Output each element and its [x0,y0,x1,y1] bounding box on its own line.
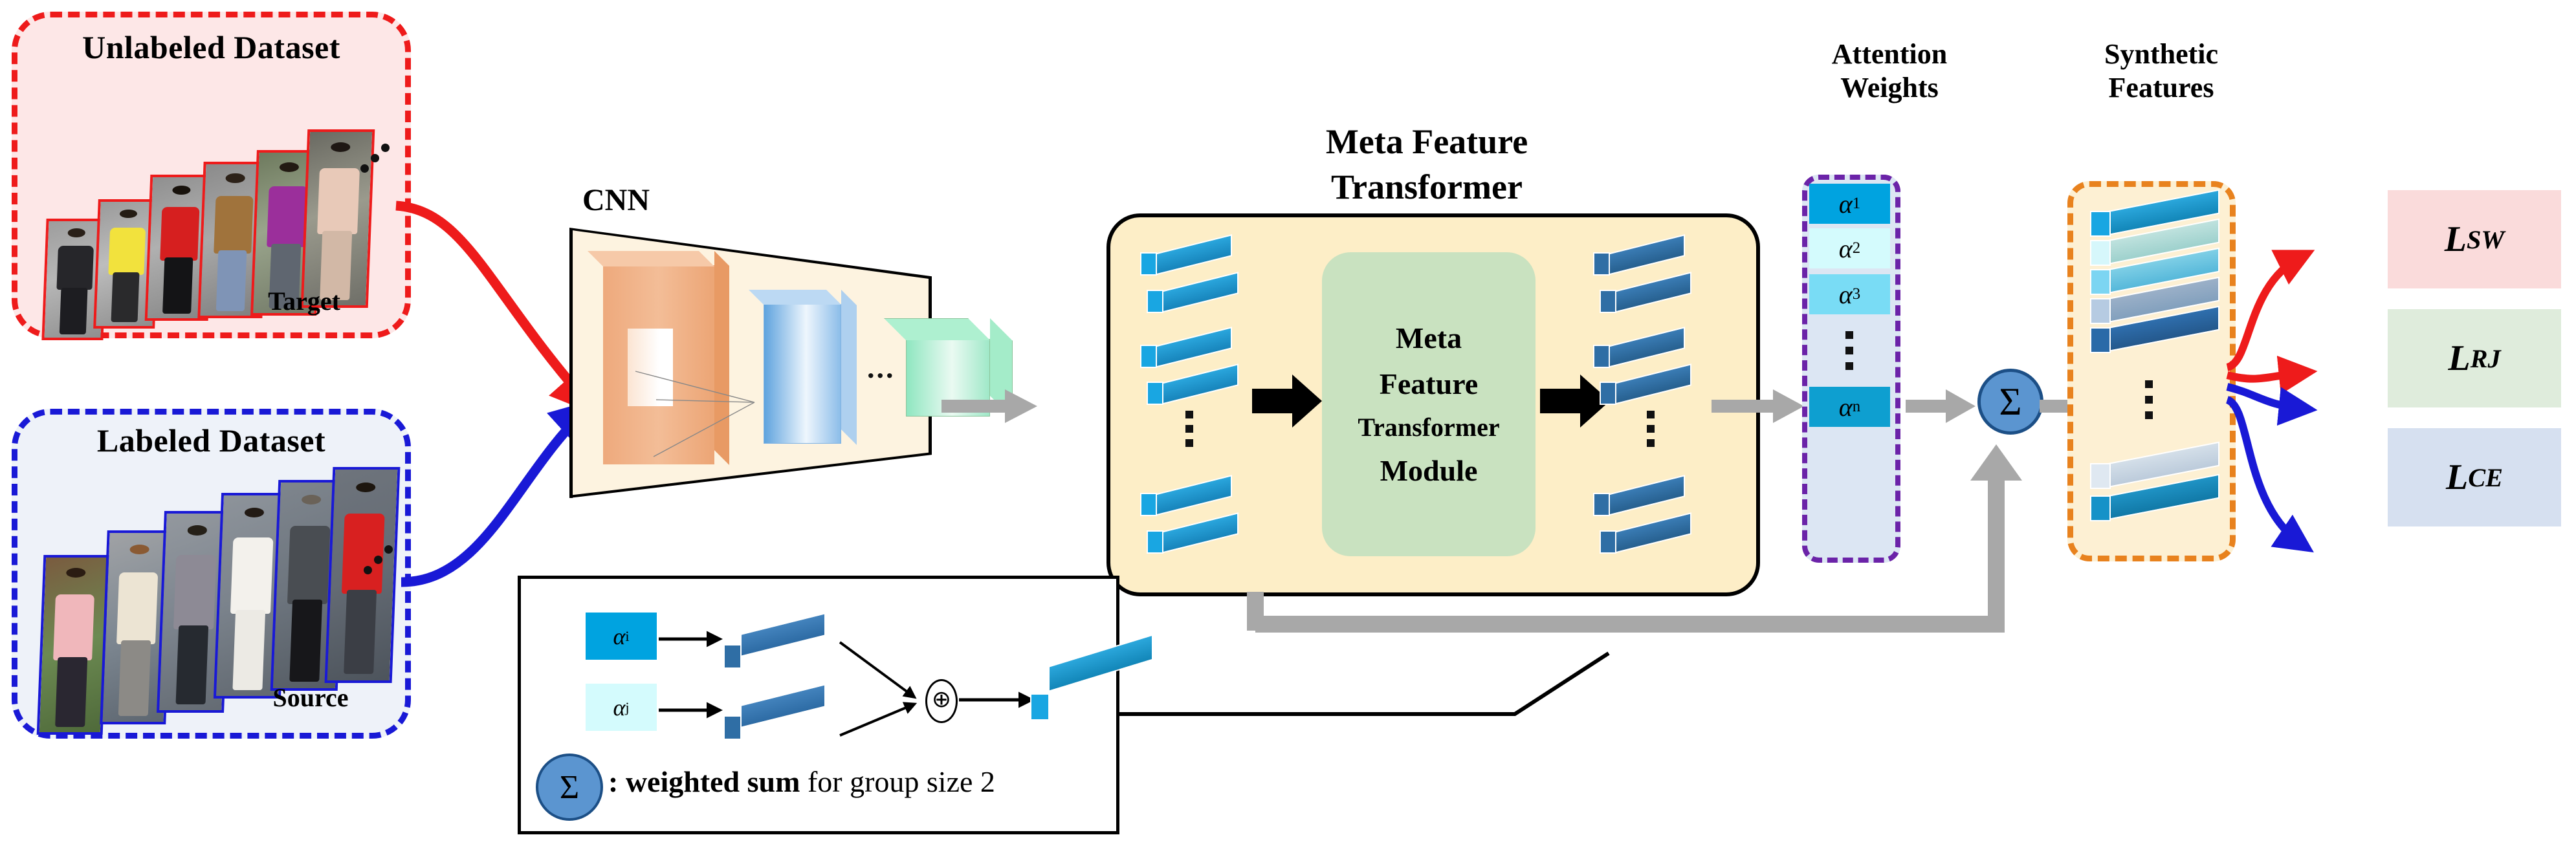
mft-module-text: Meta Feature Transformer Module [1322,252,1536,556]
synthetic-title-line2: Features [2054,71,2268,104]
meta-feature-transformer-module: Meta Feature Transformer Module [1322,252,1536,556]
legend-merge-arrows [835,637,938,741]
attention-title-line2: Weights [1783,71,1996,104]
synthetic-bar [2090,479,2219,523]
mft-input-bar [1147,517,1238,555]
mft-output-bar [1593,480,1685,517]
source-photo-1 [37,555,110,735]
mft-input-bar [1140,480,1232,517]
mft-input-bar [1147,369,1238,406]
legend-sum-icon: Σ [536,754,603,821]
loss-rj-sub: RJ [2471,343,2501,374]
synthetic-bar [2090,310,2219,354]
attention-cell-alpha3: α3 [1809,274,1890,314]
attention-title-line1: Attention [1783,38,1996,70]
mft-output-bar [1600,369,1691,406]
loss-box-ce: LCE [2388,428,2561,526]
attention-cell-alphan: αn [1809,387,1890,427]
mft-title-line1: Meta Feature [1119,122,1734,162]
unlabeled-dataset-ellipsis [359,144,391,176]
legend-oplus-icon: ⊕ [925,679,958,723]
target-label: Target [239,286,369,316]
legend-alpha-i-arrow [659,626,730,652]
attention-cell-alpha1-sub: 1 [1853,195,1860,213]
mft-output-bar [1600,277,1691,314]
unlabeled-dataset-title: Unlabeled Dataset [12,28,411,66]
mft-module-line-2: Feature [1380,361,1478,407]
legend-alpha-j-label: α [613,694,625,721]
sum-symbol: Σ [1999,380,2022,424]
loss-rj-label: L [2448,338,2470,379]
loss-box-sw: LSW [2388,190,2561,288]
diagram-canvas: Unlabeled Dataset Target [0,0,2576,846]
cnn-layer-2 [764,290,859,444]
attention-cell-alpha2: α2 [1809,228,1890,268]
loss-sw-sub: SW [2467,224,2504,255]
legend-feature-bar-j [723,705,827,746]
legend-caption: : weighted sum for group size 2 [608,765,995,799]
legend-caption-bold: : weighted sum [608,765,800,798]
loss-ce-sub: CE [2468,462,2503,493]
attention-cell-alphan-label: α [1839,392,1853,422]
cnn-ellipsis: ... [867,351,896,385]
mft-output-bar [1600,517,1691,555]
legend-alpha-j: αj [586,684,657,731]
attention-cell-alpha1-label: α [1839,189,1853,219]
mft-output-bar [1593,239,1685,277]
cnn-label: CNN [582,182,650,218]
legend-alpha-i: αi [586,613,657,660]
cnn-to-mft-arrow [941,387,1039,426]
labeled-dataset-title: Labeled Dataset [12,422,411,459]
attention-cell-alpha3-label: α [1839,279,1853,310]
attention-cell-alpha2-label: α [1839,233,1853,264]
attention-cell-alpha2-sub: 2 [1853,239,1860,257]
mft-input-bar [1140,239,1232,277]
attention-cell-alpha3-sub: 3 [1853,285,1860,303]
mft-module-line-1: Meta [1396,315,1462,361]
mft-input-bar [1140,332,1232,369]
loss-ce-label: L [2446,457,2468,498]
legend-connector-line [1117,647,1699,815]
mft-title-line2: Transformer [1119,167,1734,207]
attention-cell-alphan-sub: n [1853,398,1860,416]
legend-alpha-i-sub: i [625,628,629,645]
mft-input-bar [1147,277,1238,314]
attention-cell-alpha1: α1 [1809,184,1890,224]
mft-output-bar [1593,332,1685,369]
loss-sw-label: L [2445,219,2467,260]
legend-oplus-symbol: ⊕ [932,688,951,711]
legend-alpha-j-arrow [659,697,730,723]
synthetic-title-line1: Synthetic [2054,38,2268,70]
cnn-block: ... [569,228,932,498]
attention-to-sum-arrow [1906,387,1977,426]
legend-feature-bar-i [723,634,827,675]
weighted-sum-node: Σ [1977,369,2043,435]
legend-alpha-i-label: α [613,623,625,650]
mft-module-line-4: Module [1380,448,1478,493]
source-label: Source [246,682,375,713]
loss-box-rj: LRJ [2388,309,2561,407]
legend-alpha-j-sub: j [625,699,629,716]
mft-input-arrow [1252,372,1323,430]
legend-caption-rest: for group size 2 [800,765,995,798]
mft-to-attention-arrow [1712,387,1805,426]
mft-module-line-3: Transformer [1358,407,1499,448]
legend-sum-symbol: Σ [560,768,579,807]
